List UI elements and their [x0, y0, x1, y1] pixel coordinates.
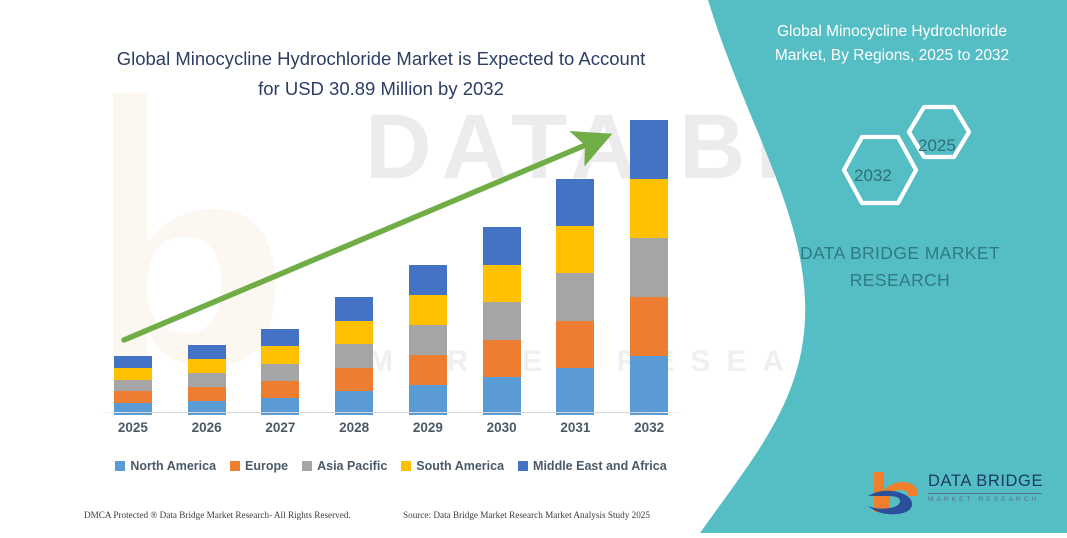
- bar-segment-middle-east-and-africa: [114, 356, 152, 368]
- bar-segment-europe: [409, 355, 447, 385]
- legend-swatch-icon: [115, 461, 125, 471]
- chart-baseline-axis: [96, 412, 686, 413]
- legend-label: Europe: [245, 459, 288, 473]
- bar-2029: [409, 265, 447, 415]
- bar-segment-europe: [483, 340, 521, 378]
- legend-label: South America: [416, 459, 504, 473]
- bar-segment-middle-east-and-africa: [556, 179, 594, 226]
- bar-segment-europe: [114, 391, 152, 403]
- bar-segment-south-america: [261, 346, 299, 363]
- bar-2032: [630, 120, 668, 415]
- panel-brand-line-1: DATA BRIDGE MARKET: [790, 240, 1010, 267]
- legend-item-middle-east-and-africa[interactable]: Middle East and Africa: [518, 459, 667, 473]
- legend-label: Asia Pacific: [317, 459, 387, 473]
- bar-2025: [114, 356, 152, 415]
- x-tick-2025: 2025: [93, 420, 173, 435]
- bar-2031: [556, 179, 594, 415]
- bar-2030: [483, 227, 521, 415]
- logo-divider: [928, 493, 1042, 494]
- bar-segment-south-america: [409, 295, 447, 325]
- bar-segment-middle-east-and-africa: [409, 265, 447, 295]
- legend-item-europe[interactable]: Europe: [230, 459, 288, 473]
- bar-segment-asia-pacific: [335, 344, 373, 368]
- bar-segment-middle-east-and-africa: [483, 227, 521, 265]
- bar-2027: [261, 329, 299, 415]
- panel-title-line-2: Market, By Regions, 2025 to 2032: [742, 44, 1042, 68]
- bar-segment-asia-pacific: [261, 364, 299, 381]
- infographic-canvas: DATA BRIDGE MARKET RESEARCH Global Minoc…: [0, 0, 1067, 533]
- bar-segment-north-america: [556, 368, 594, 415]
- bar-segment-middle-east-and-africa: [188, 345, 226, 359]
- bar-segment-asia-pacific: [409, 325, 447, 355]
- bar-segment-asia-pacific: [630, 238, 668, 297]
- panel-brand-line-2: RESEARCH: [790, 267, 1010, 294]
- legend-swatch-icon: [401, 461, 411, 471]
- bar-segment-europe: [335, 368, 373, 392]
- bar-segment-north-america: [483, 377, 521, 415]
- legend-item-asia-pacific[interactable]: Asia Pacific: [302, 459, 387, 473]
- panel-brand-text: DATA BRIDGE MARKET RESEARCH: [790, 240, 1010, 294]
- hexagon-label-2032: 2032: [854, 166, 892, 186]
- bar-segment-middle-east-and-africa: [630, 120, 668, 179]
- bar-segment-south-america: [114, 368, 152, 380]
- bar-segment-asia-pacific: [556, 273, 594, 320]
- bar-segment-europe: [188, 387, 226, 401]
- legend-label: North America: [130, 459, 216, 473]
- bar-segment-asia-pacific: [188, 373, 226, 387]
- data-bridge-mark-icon: [866, 470, 924, 516]
- logo-tagline: MARKET RESEARCH: [928, 496, 1043, 503]
- page-title: Global Minocycline Hydrochloride Market …: [66, 44, 696, 104]
- legend-label: Middle East and Africa: [533, 459, 667, 473]
- legend-swatch-icon: [518, 461, 528, 471]
- x-tick-2031: 2031: [535, 420, 615, 435]
- bar-segment-europe: [556, 321, 594, 368]
- bar-segment-south-america: [483, 265, 521, 303]
- bar-segment-middle-east-and-africa: [261, 329, 299, 346]
- bar-segment-south-america: [335, 321, 373, 345]
- chart-legend: North AmericaEuropeAsia PacificSouth Ame…: [96, 459, 686, 473]
- bar-segment-middle-east-and-africa: [335, 297, 373, 321]
- panel-title: Global Minocycline Hydrochloride Market,…: [742, 20, 1042, 68]
- bar-segment-south-america: [188, 359, 226, 373]
- data-bridge-logo: DATA BRIDGE MARKET RESEARCH: [866, 470, 1046, 518]
- legend-item-south-america[interactable]: South America: [401, 459, 504, 473]
- bar-2028: [335, 297, 373, 415]
- bar-segment-europe: [261, 381, 299, 398]
- panel-title-line-1: Global Minocycline Hydrochloride: [742, 20, 1042, 44]
- bar-2026: [188, 345, 226, 415]
- stacked-bar-chart: [96, 120, 686, 415]
- legend-item-north-america[interactable]: North America: [115, 459, 216, 473]
- legend-swatch-icon: [302, 461, 312, 471]
- x-tick-2030: 2030: [462, 420, 542, 435]
- bar-segment-south-america: [630, 179, 668, 238]
- x-tick-2027: 2027: [240, 420, 320, 435]
- bar-segment-asia-pacific: [114, 380, 152, 392]
- bar-segment-europe: [630, 297, 668, 356]
- hexagon-group: 2025 2032: [826, 104, 986, 209]
- page-title-line-2: for USD 30.89 Million by 2032: [66, 74, 696, 104]
- x-tick-2029: 2029: [388, 420, 468, 435]
- legend-swatch-icon: [230, 461, 240, 471]
- page-title-line-1: Global Minocycline Hydrochloride Market …: [66, 44, 696, 74]
- logo-name: DATA BRIDGE: [928, 472, 1043, 491]
- bar-segment-south-america: [556, 226, 594, 273]
- data-bridge-logo-text: DATA BRIDGE MARKET RESEARCH: [928, 472, 1043, 503]
- bar-segment-asia-pacific: [483, 302, 521, 340]
- x-tick-2028: 2028: [314, 420, 394, 435]
- hexagon-outlines-icon: [826, 104, 986, 209]
- footer-source: Source: Data Bridge Market Research Mark…: [403, 510, 650, 520]
- bar-segment-north-america: [114, 403, 152, 415]
- bar-segment-north-america: [409, 385, 447, 415]
- hexagon-label-2025: 2025: [918, 136, 956, 156]
- x-tick-2026: 2026: [167, 420, 247, 435]
- bar-segment-north-america: [630, 356, 668, 415]
- footer-copyright: DMCA Protected ® Data Bridge Market Rese…: [84, 510, 351, 520]
